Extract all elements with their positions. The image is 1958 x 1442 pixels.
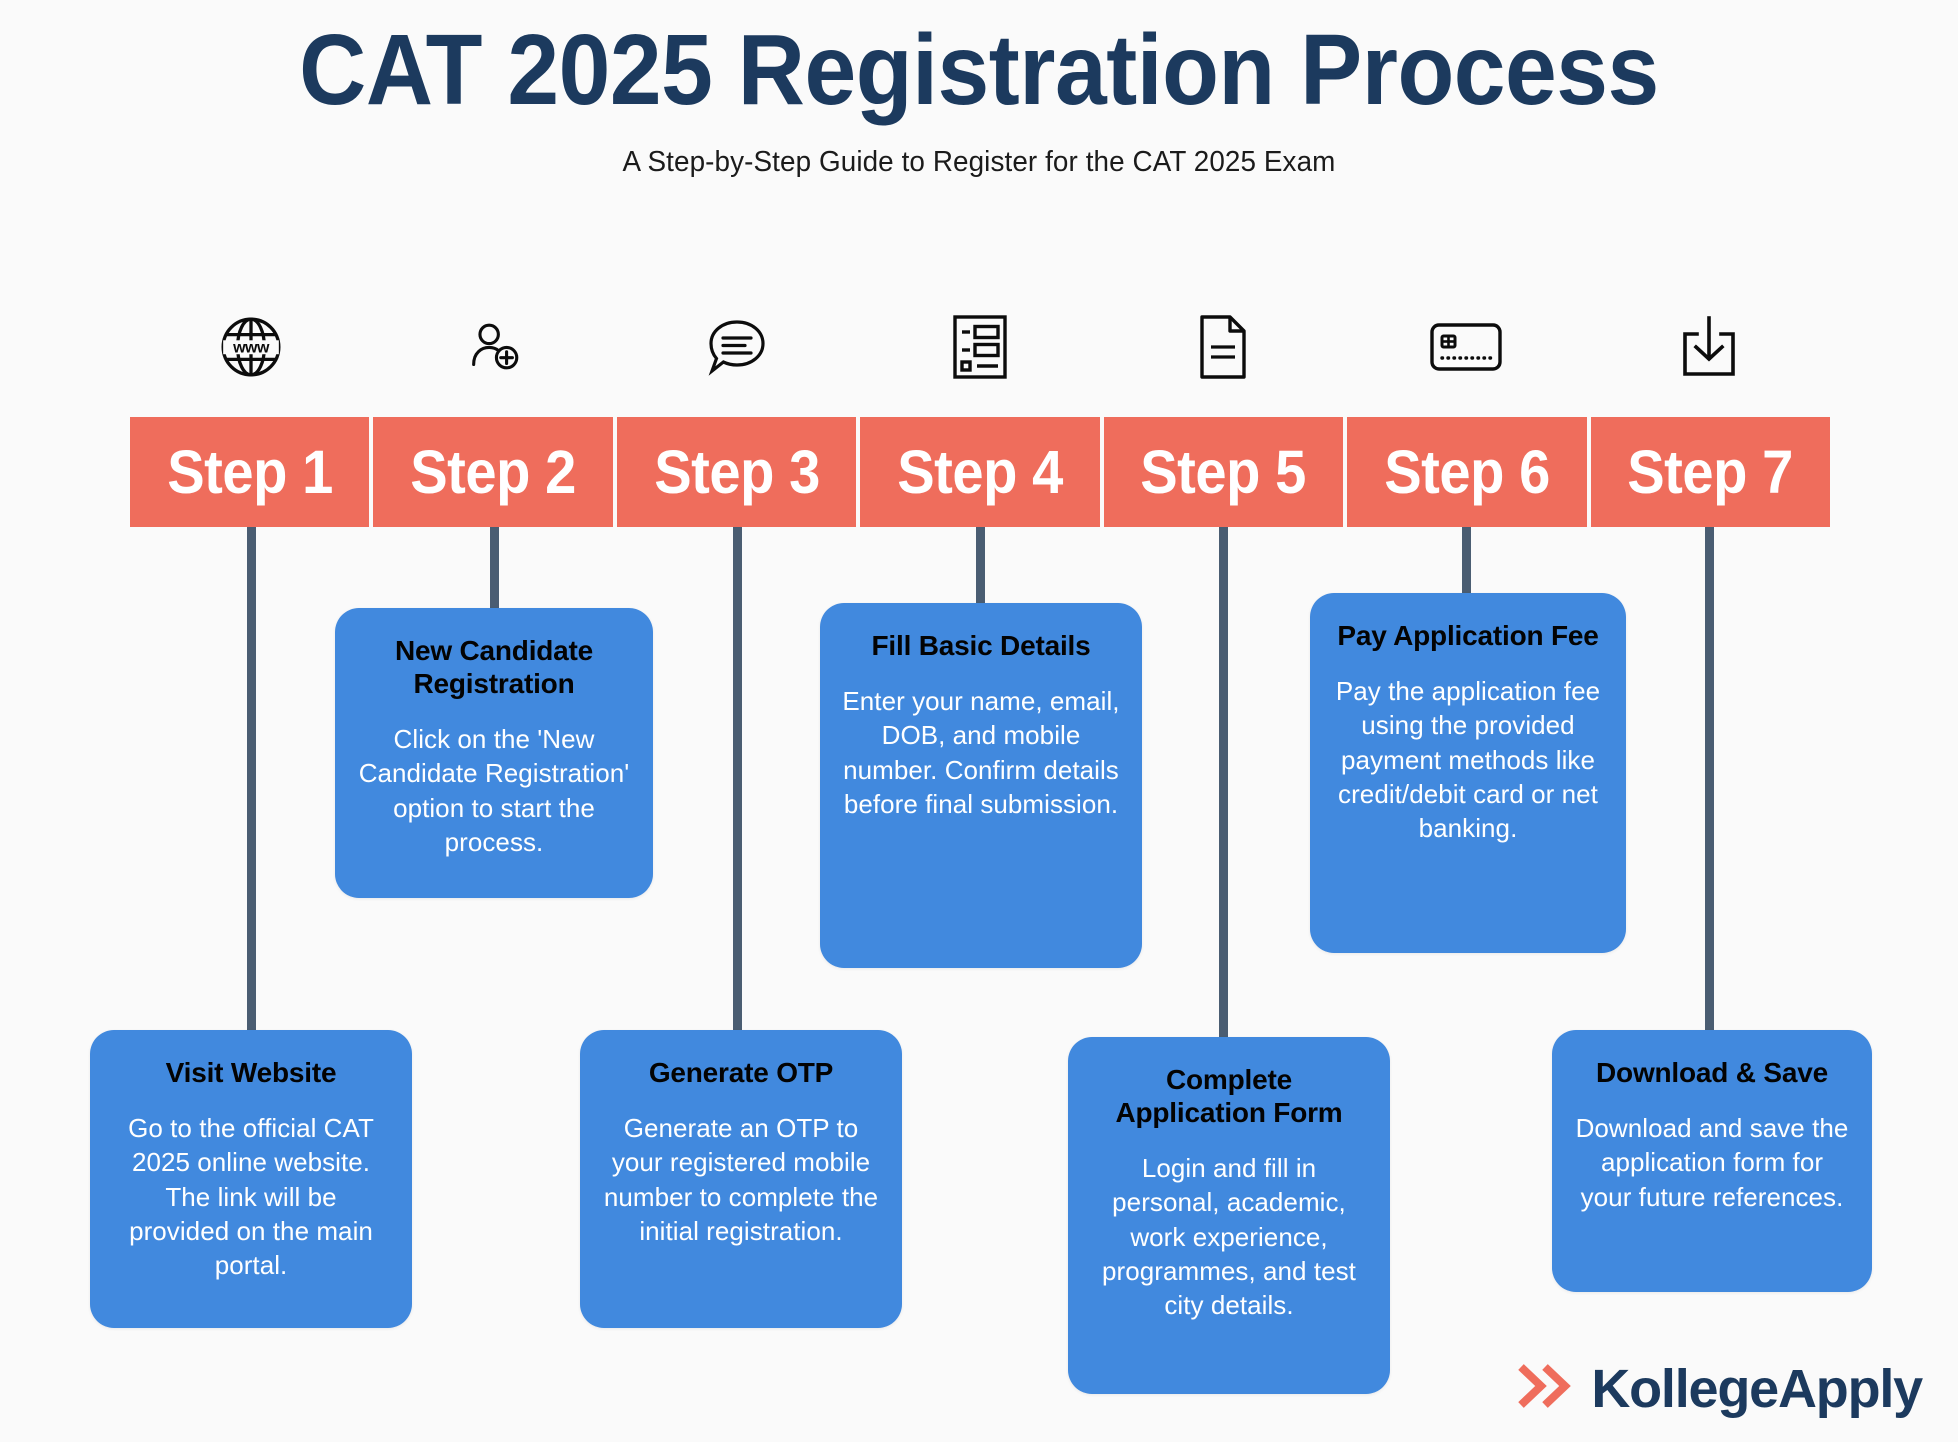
step-card-5[interactable]: Complete Application Form Login and fill… [1068, 1037, 1390, 1394]
step-label: Step 5 [1141, 437, 1307, 507]
step-label: Step 2 [410, 437, 576, 507]
card-title: Fill Basic Details [842, 629, 1120, 662]
step-segment-1[interactable]: Step 1 [130, 417, 373, 527]
step-card-1[interactable]: Visit Website Go to the official CAT 202… [90, 1030, 412, 1328]
step-label: Step 1 [167, 437, 333, 507]
card-title: New Candidate Registration [357, 634, 631, 700]
globe-www-icon: www [130, 302, 373, 392]
card-body: Enter your name, email, DOB, and mobile … [842, 684, 1120, 821]
card-title: Generate OTP [602, 1056, 880, 1089]
card-body: Pay the application fee using the provid… [1332, 674, 1604, 846]
connector-line-4 [976, 527, 985, 607]
connector-line-1 [247, 527, 256, 1037]
step-segment-7[interactable]: Step 7 [1591, 417, 1830, 527]
step-label: Step 3 [654, 437, 820, 507]
connector-line-5 [1219, 527, 1228, 1044]
card-title: Download & Save [1574, 1056, 1850, 1089]
download-tray-icon [1587, 302, 1830, 392]
connector-line-7 [1705, 527, 1714, 1037]
step-card-4[interactable]: Fill Basic Details Enter your name, emai… [820, 603, 1142, 968]
form-fields-icon [859, 302, 1102, 392]
step-label: Step 6 [1384, 437, 1550, 507]
step-card-6[interactable]: Pay Application Fee Pay the application … [1310, 593, 1626, 953]
step-segment-4[interactable]: Step 4 [860, 417, 1103, 527]
connector-line-3 [733, 527, 742, 1037]
page-subtitle: A Step-by-Step Guide to Register for the… [39, 146, 1919, 179]
credit-card-icon [1344, 302, 1587, 392]
card-body: Download and save the application form f… [1574, 1111, 1850, 1214]
card-title: Pay Application Fee [1332, 619, 1604, 652]
double-chevron-icon [1515, 1359, 1577, 1418]
page-title: CAT 2025 Registration Process [69, 14, 1890, 126]
card-body: Click on the 'New Candidate Registration… [357, 722, 631, 859]
icon-row: www [130, 302, 1830, 392]
infographic-canvas: CAT 2025 Registration Process A Step-by-… [0, 0, 1958, 1442]
svg-text:www: www [233, 340, 271, 357]
step-card-2[interactable]: New Candidate Registration Click on the … [335, 608, 653, 898]
connector-line-2 [490, 527, 499, 612]
document-icon [1101, 302, 1344, 392]
message-bubble-icon [616, 302, 859, 392]
step-segment-3[interactable]: Step 3 [617, 417, 860, 527]
step-card-3[interactable]: Generate OTP Generate an OTP to your reg… [580, 1030, 902, 1328]
brand-logo[interactable]: KollegeApply [1515, 1359, 1922, 1418]
add-user-icon [373, 302, 616, 392]
step-bar: Step 1 Step 2 Step 3 Step 4 Step 5 Step … [130, 417, 1830, 527]
card-title: Visit Website [112, 1056, 390, 1089]
step-segment-5[interactable]: Step 5 [1104, 417, 1347, 527]
step-card-7[interactable]: Download & Save Download and save the ap… [1552, 1030, 1872, 1292]
brand-name: KollegeApply [1591, 1362, 1922, 1416]
card-body: Generate an OTP to your registered mobil… [602, 1111, 880, 1248]
card-title: Complete Application Form [1090, 1063, 1368, 1129]
step-segment-2[interactable]: Step 2 [373, 417, 616, 527]
header: CAT 2025 Registration Process A Step-by-… [0, 0, 1958, 179]
step-label: Step 4 [897, 437, 1063, 507]
card-body: Go to the official CAT 2025 online websi… [112, 1111, 390, 1283]
connector-line-6 [1462, 527, 1471, 595]
step-segment-6[interactable]: Step 6 [1347, 417, 1590, 527]
step-label: Step 7 [1627, 437, 1793, 507]
card-body: Login and fill in personal, academic, wo… [1090, 1151, 1368, 1323]
